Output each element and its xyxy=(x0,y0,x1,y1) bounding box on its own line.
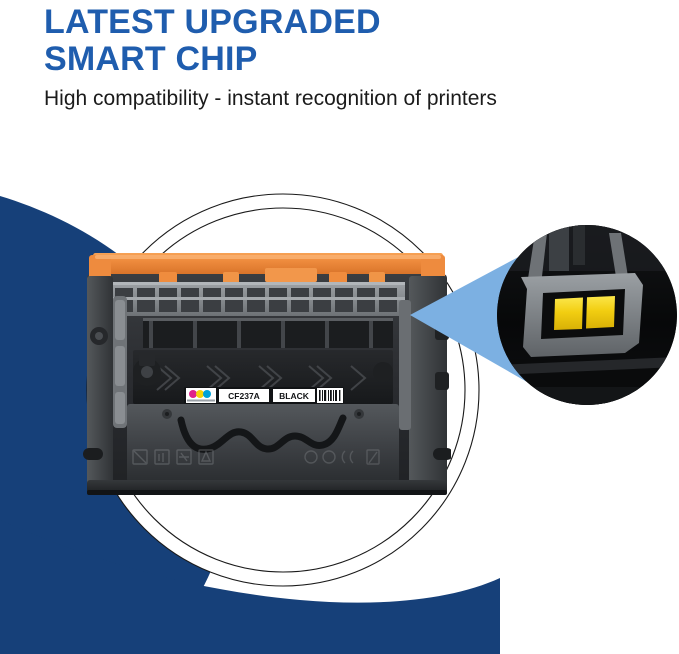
inner-recess xyxy=(143,318,393,348)
bottom-rail xyxy=(87,480,447,495)
headline-line-1: LATEST UPGRADED xyxy=(44,4,644,41)
toner-cartridge-image: CF237A BLACK xyxy=(83,252,451,510)
product-label: CF237A BLACK xyxy=(184,387,344,404)
chip-contact-right xyxy=(586,296,615,329)
smart-chip-closeup xyxy=(497,225,677,405)
chip-contact-left xyxy=(554,298,583,331)
subtitle: High compatibility - instant recognition… xyxy=(44,86,497,112)
label-model-text: CF237A xyxy=(228,391,260,401)
label-color-text: BLACK xyxy=(279,391,310,401)
product-banner: CF237A BLACK xyxy=(0,0,679,654)
headline: LATEST UPGRADED SMART CHIP xyxy=(44,4,644,78)
headline-line-2: SMART CHIP xyxy=(44,41,644,78)
label-barcode xyxy=(317,388,343,403)
vent-grille xyxy=(109,282,405,316)
chip-closeup-art xyxy=(497,225,677,405)
front-panel xyxy=(127,404,399,482)
